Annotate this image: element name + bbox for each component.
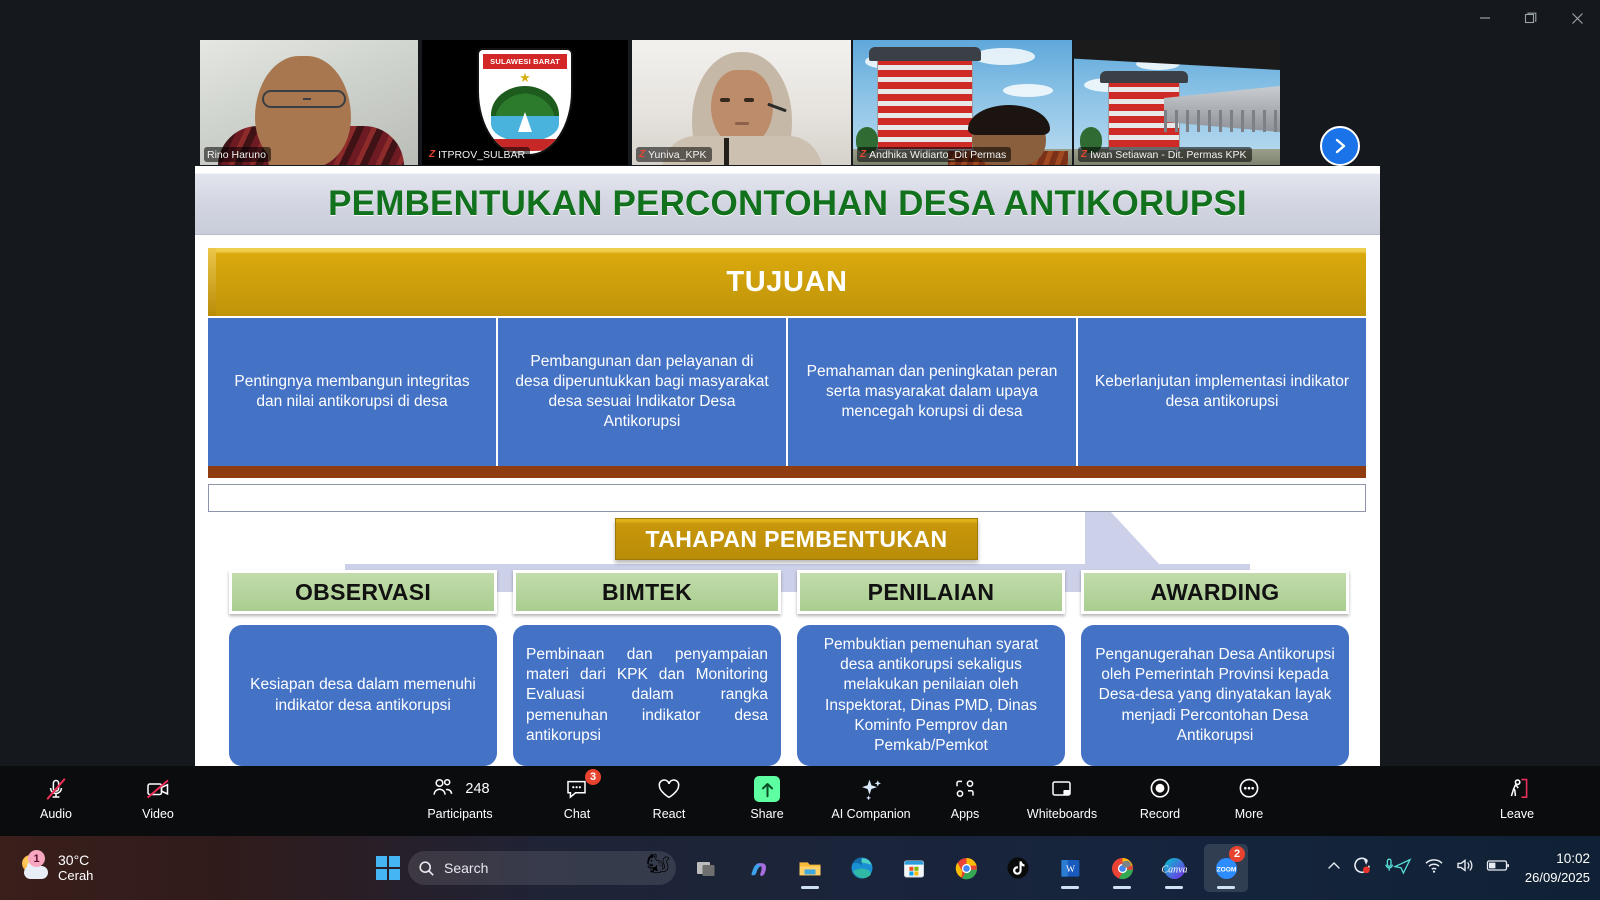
skybridge-railing xyxy=(1164,110,1280,132)
taskbar-icon-microsoft-edge[interactable] xyxy=(840,844,884,892)
stage-label-box: AWARDING xyxy=(1081,570,1349,614)
person-eye-left xyxy=(720,98,730,102)
stage-description-box: Pembuktian pemenuhan syarat desa antikor… xyxy=(797,625,1065,766)
stage-description: Pembinaan dan penyampaian materi dari KP… xyxy=(526,645,768,746)
brown-divider xyxy=(208,466,1366,478)
tujuan-item: Pembangunan dan pelayanan di desa diperu… xyxy=(496,318,786,466)
taskbar-icon-microsoft-word[interactable]: W xyxy=(1048,844,1092,892)
nameplate: Z Yuniva_KPK xyxy=(636,147,712,162)
whiteboard-icon xyxy=(1048,774,1076,804)
start-button[interactable] xyxy=(376,856,400,880)
tujuan-items-row: Pentingnya membangun integritas dan nila… xyxy=(208,318,1366,466)
nameplate: Rino Haruno xyxy=(204,147,271,162)
participant-tile-andhika-widiarto[interactable]: Z Andhika Widiarto_Dit Permas xyxy=(853,40,1072,165)
more-label: More xyxy=(1235,807,1263,821)
tujuan-item-text: Pentingnya membangun integritas dan nila… xyxy=(222,372,482,412)
nameplate: Z ITPROV_SULBAR xyxy=(426,147,530,162)
audio-button[interactable]: Audio xyxy=(32,774,80,830)
participant-filmstrip: Rino Haruno SULAWESI BARAT ★ Z ITPROV_SU… xyxy=(0,36,1600,166)
cloud-shape xyxy=(973,48,1035,65)
notification-badge: 1 xyxy=(28,850,45,867)
running-indicator xyxy=(801,886,819,889)
start-tile xyxy=(376,869,387,880)
leave-button[interactable]: Leave xyxy=(1490,774,1544,830)
search-placeholder: Search xyxy=(444,860,488,876)
tujuan-header-text: TUJUAN xyxy=(726,266,847,299)
zoom-logo-icon: Z xyxy=(860,150,866,160)
react-button[interactable]: React xyxy=(645,774,693,830)
clock-widget[interactable]: 10:02 26/09/2025 xyxy=(1525,849,1590,887)
kpk-building-roof xyxy=(869,47,981,61)
shared-screen-stage: PEMBENTUKAN PERCONTOHAN DESA ANTIKORUPSI… xyxy=(0,166,1600,766)
tujuan-item-text: Pembangunan dan pelayanan di desa diperu… xyxy=(512,352,772,431)
taskbar-icon-tiktok[interactable] xyxy=(996,844,1040,892)
crest-sail xyxy=(518,112,532,132)
record-button[interactable]: Record xyxy=(1133,774,1187,830)
lanyard xyxy=(724,138,729,165)
participants-icon: 248 xyxy=(430,774,489,804)
svg-text:ZOOM: ZOOM xyxy=(1216,866,1236,873)
stage-column-penilaian: PENILAIAN Pembuktian pemenuhan syarat de… xyxy=(797,570,1065,766)
stage-label: BIMTEK xyxy=(602,579,692,606)
share-screen-icon xyxy=(754,774,780,804)
apps-label: Apps xyxy=(951,807,980,821)
participant-name: Rino Haruno xyxy=(207,149,266,161)
stage-description: Penganugerahan Desa Antikorupsi oleh Pem… xyxy=(1094,645,1336,746)
stage-label: PENILAIAN xyxy=(868,579,995,606)
battery-icon[interactable] xyxy=(1486,858,1510,878)
wifi-icon[interactable] xyxy=(1424,857,1444,879)
svg-text:Canva: Canva xyxy=(1162,864,1187,875)
weather-sunny-icon: 1 xyxy=(20,854,50,882)
tujuan-item: Pentingnya membangun integritas dan nila… xyxy=(208,318,496,466)
audio-label: Audio xyxy=(40,807,72,821)
zoom-logo-icon: Z xyxy=(429,150,435,160)
participants-count: 248 xyxy=(465,781,489,797)
heart-icon xyxy=(656,774,682,804)
chevron-up-icon xyxy=(1326,858,1342,874)
volume-icon[interactable] xyxy=(1455,857,1475,879)
chevron-right-icon xyxy=(1331,137,1349,155)
zoom-logo-icon: Z xyxy=(639,150,645,160)
ai-companion-label: AI Companion xyxy=(831,807,910,821)
chat-label: Chat xyxy=(564,807,590,821)
zoom-meeting-toolbar: Audio ⌃ Video ⌃ xyxy=(0,766,1600,836)
slide-title-text: PEMBENTUKAN PERCONTOHAN DESA ANTIKORUPSI xyxy=(328,184,1247,224)
participant-name: Iwan Setiawan - Dit. Permas KPK xyxy=(1090,149,1246,161)
record-icon xyxy=(1147,774,1173,804)
taskbar-center-group: Search 🐿 xyxy=(376,844,1248,892)
participant-name: ITPROV_SULBAR xyxy=(438,149,525,161)
tujuan-header: TUJUAN xyxy=(208,248,1366,316)
tujuan-item: Keberlanjutan implementasi indikator des… xyxy=(1076,318,1366,466)
minimize-button[interactable] xyxy=(1462,2,1508,34)
weather-temperature: 30°C xyxy=(58,853,93,869)
stage-description-box: Penganugerahan Desa Antikorupsi oleh Pem… xyxy=(1081,625,1349,766)
zoom-meeting-window: Rino Haruno SULAWESI BARAT ★ Z ITPROV_SU… xyxy=(0,0,1600,900)
person-eye-right xyxy=(744,98,754,102)
running-indicator xyxy=(1165,886,1183,889)
whiteboards-label: Whiteboards xyxy=(1027,807,1097,821)
squirrel-decoration-icon: 🐿 xyxy=(646,852,670,876)
start-tile xyxy=(389,856,400,867)
crest-star-icon: ★ xyxy=(519,70,531,86)
record-label: Record xyxy=(1140,807,1180,821)
more-ellipsis-icon xyxy=(1236,774,1262,804)
apps-icon xyxy=(952,774,978,804)
participant-name: Andhika Widiarto_Dit Permas xyxy=(869,149,1006,161)
taskbar-icon-file-explorer[interactable] xyxy=(788,844,832,892)
weather-text: 30°C Cerah xyxy=(58,853,93,883)
weather-widget[interactable]: 1 30°C Cerah xyxy=(20,848,93,888)
kpk-building xyxy=(877,57,973,151)
taskbar-icon-microsoft-store[interactable] xyxy=(892,844,936,892)
participant-name: Yuniva_KPK xyxy=(648,149,706,161)
stage-description: Kesiapan desa dalam memenuhi indikator d… xyxy=(242,675,484,715)
participant-tile-rino-haruno[interactable]: Rino Haruno xyxy=(200,40,418,165)
start-tile xyxy=(389,869,400,880)
show-hidden-icons-button[interactable] xyxy=(1326,858,1342,879)
restore-button[interactable] xyxy=(1508,2,1554,34)
search-input[interactable]: Search 🐿 xyxy=(408,851,676,885)
nameplate: Z Andhika Widiarto_Dit Permas xyxy=(857,147,1011,162)
stage-label: OBSERVASI xyxy=(295,579,431,606)
microphone-in-use-icon[interactable] xyxy=(1383,857,1413,880)
taskbar-icon-task-view[interactable] xyxy=(684,844,728,892)
video-button[interactable]: Video xyxy=(134,774,182,830)
stage-label: AWARDING xyxy=(1151,579,1280,606)
sulawesi-barat-crest-icon: SULAWESI BARAT ★ xyxy=(477,48,573,156)
stages-row: OBSERVASI Kesiapan desa dalam memenuhi i… xyxy=(229,570,1349,766)
svg-text:W: W xyxy=(1066,865,1075,875)
location-arrow-icon xyxy=(1395,859,1410,872)
stage-label-box: BIMTEK xyxy=(513,570,781,614)
more-button[interactable]: More xyxy=(1224,774,1274,830)
nameplate: Z Iwan Setiawan - Dit. Permas KPK xyxy=(1078,147,1252,162)
chat-button[interactable]: 3 Chat xyxy=(553,774,601,830)
running-indicator xyxy=(1061,886,1079,889)
participant-tile-yuniva-kpk[interactable]: Z Yuniva_KPK xyxy=(632,40,851,165)
camera-muted-icon xyxy=(144,774,172,804)
kpk-building-roof xyxy=(1100,71,1188,83)
cloud-shape xyxy=(1003,84,1053,97)
weather-condition: Cerah xyxy=(58,869,93,884)
microphone-muted-icon xyxy=(43,774,69,804)
eyeglasses xyxy=(262,90,346,108)
crest-band-label: SULAWESI BARAT xyxy=(483,54,567,69)
start-tile xyxy=(376,856,387,867)
stage-description-box: Kesiapan desa dalam memenuhi indikator d… xyxy=(229,625,497,766)
taskbar-icon-copilot[interactable] xyxy=(736,844,780,892)
windows-taskbar: 1 30°C Cerah Search 🐿 xyxy=(0,836,1600,900)
empty-text-box xyxy=(208,484,1366,512)
search-icon xyxy=(418,860,435,877)
tujuan-item: Pemahaman dan peningkatan peran serta ma… xyxy=(786,318,1076,466)
apps-button[interactable]: Apps xyxy=(940,774,990,830)
ai-companion-button[interactable]: AI Companion xyxy=(818,774,924,830)
tahapan-header-text: TAHAPAN PEMBENTUKAN xyxy=(646,526,948,553)
react-label: React xyxy=(653,807,686,821)
participants-button[interactable]: 248 Participants xyxy=(420,774,500,830)
running-indicator xyxy=(1217,886,1235,889)
window-title-bar xyxy=(0,0,1600,36)
participant-tile-iwan-setiawan[interactable]: Z Iwan Setiawan - Dit. Permas KPK xyxy=(1074,40,1280,165)
share-label: Share xyxy=(750,807,783,821)
person-face xyxy=(711,70,773,144)
stage-column-observasi: OBSERVASI Kesiapan desa dalam memenuhi i… xyxy=(229,570,497,766)
tujuan-item-text: Keberlanjutan implementasi indikator des… xyxy=(1092,372,1352,412)
taskbar-icon-canva[interactable]: Canva xyxy=(1152,844,1196,892)
clock-time: 10:02 xyxy=(1556,851,1590,866)
whiteboards-button[interactable]: Whiteboards xyxy=(1010,774,1114,830)
running-indicator xyxy=(1113,886,1131,889)
tahapan-header: TAHAPAN PEMBENTUKAN xyxy=(615,518,978,560)
sparkle-icon xyxy=(858,774,884,804)
person-mouth xyxy=(735,122,749,125)
stage-column-bimtek: BIMTEK Pembinaan dan penyampaian materi … xyxy=(513,570,781,766)
close-button[interactable] xyxy=(1554,2,1600,34)
stage-label-box: PENILAIAN xyxy=(797,570,1065,614)
zoom-taskbar-badge: 2 xyxy=(1229,846,1245,862)
taskbar-icon-google-chrome-2[interactable] xyxy=(1100,844,1144,892)
next-page-button[interactable] xyxy=(1320,126,1360,166)
stage-label-box: OBSERVASI xyxy=(229,570,497,614)
chat-badge: 3 xyxy=(585,769,601,785)
system-tray: 10:02 26/09/2025 xyxy=(1326,844,1590,892)
taskbar-icon-zoom[interactable]: ZOOM 2 xyxy=(1204,844,1248,892)
leave-door-icon xyxy=(1503,774,1531,804)
slide-title: PEMBENTUKAN PERCONTOHAN DESA ANTIKORUPSI xyxy=(195,173,1380,235)
stage-description-box: Pembinaan dan penyampaian materi dari KP… xyxy=(513,625,781,766)
tujuan-item-text: Pemahaman dan peningkatan peran serta ma… xyxy=(802,362,1062,421)
stage-description: Pembuktian pemenuhan syarat desa antikor… xyxy=(810,635,1052,756)
recording-indicator-icon[interactable] xyxy=(1353,856,1372,880)
shared-slide: PEMBENTUKAN PERCONTOHAN DESA ANTIKORUPSI… xyxy=(195,166,1380,766)
leave-label: Leave xyxy=(1500,807,1534,821)
zoom-logo-icon: Z xyxy=(1081,150,1087,160)
stage-column-awarding: AWARDING Penganugerahan Desa Antikorupsi… xyxy=(1081,570,1349,766)
taskbar-icon-google-chrome[interactable] xyxy=(944,844,988,892)
clock-date: 26/09/2025 xyxy=(1525,870,1590,885)
chat-icon: 3 xyxy=(564,774,590,804)
share-screen-button[interactable]: Share xyxy=(742,774,792,830)
participants-label: Participants xyxy=(427,807,492,821)
cloud-shape xyxy=(24,866,48,879)
share-arrow-badge xyxy=(754,776,780,802)
video-label: Video xyxy=(142,807,174,821)
participant-tile-itprov-sulbar[interactable]: SULAWESI BARAT ★ Z ITPROV_SULBAR xyxy=(422,40,628,165)
